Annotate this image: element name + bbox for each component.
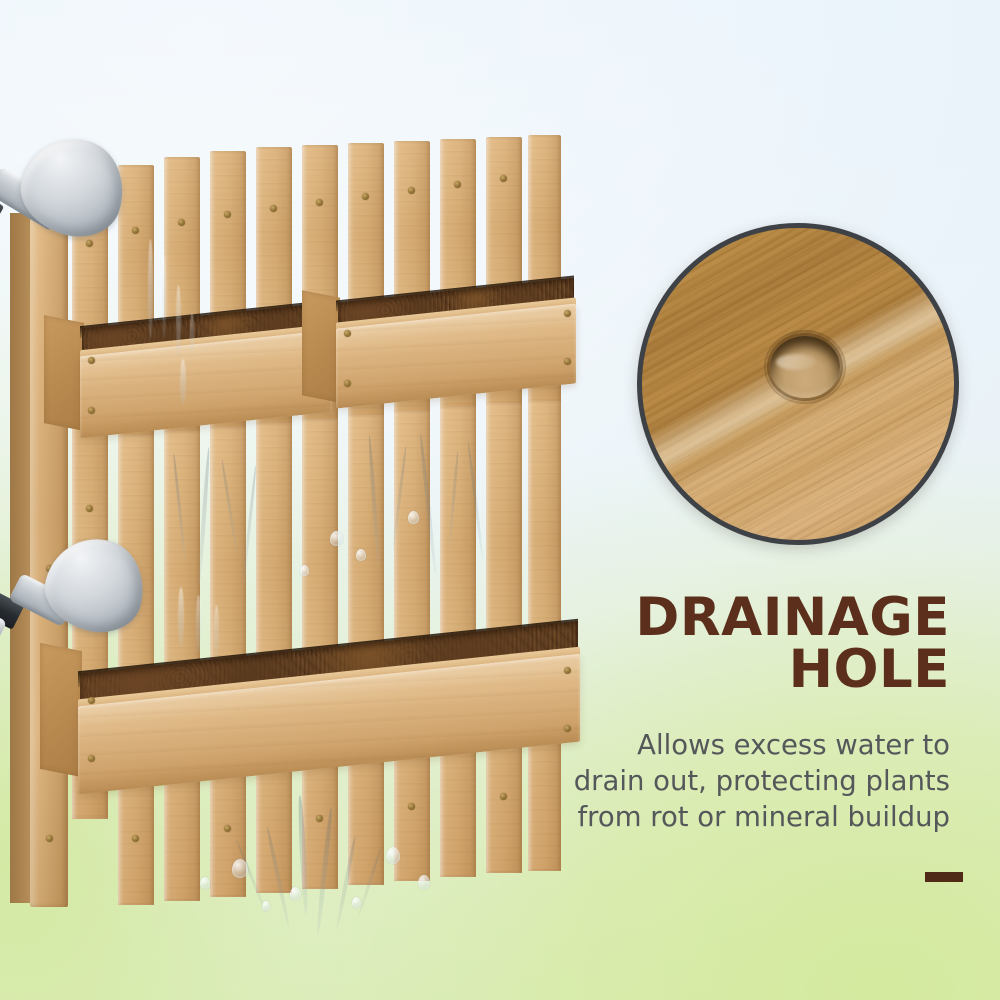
water-droplet: [290, 887, 301, 900]
screw-icon: [344, 330, 351, 337]
screw-icon: [224, 825, 231, 832]
water-stream: [178, 587, 184, 647]
body-line-3: from rot or mineral buildup: [470, 800, 950, 836]
screw-icon: [88, 407, 95, 414]
water-droplet: [300, 565, 309, 576]
screw-icon: [88, 357, 95, 364]
screw-icon: [564, 358, 571, 365]
screw-icon: [408, 803, 415, 810]
page-title: DRAINAGE HOLE: [480, 592, 950, 696]
watering-can-rose: [11, 127, 136, 247]
box-left-end: [302, 290, 340, 402]
water-stream: [180, 359, 186, 405]
description-text: Allows excess water to drain out, protec…: [470, 728, 950, 835]
water-droplet: [262, 901, 270, 911]
screw-icon: [270, 205, 277, 212]
water-droplet: [386, 847, 400, 864]
water-droplet: [352, 897, 361, 908]
water-stream: [148, 239, 153, 339]
screw-icon: [344, 380, 351, 387]
screw-icon: [408, 187, 415, 194]
water-droplet: [418, 875, 430, 889]
screw-icon: [224, 211, 231, 218]
water-droplet: [356, 549, 366, 561]
body-line-2: drain out, protecting plants: [470, 764, 950, 800]
planter-box-upper-right: [302, 288, 572, 403]
water-stream: [196, 595, 201, 653]
watering-can-top: [0, 130, 160, 250]
watering-can-rose: [37, 529, 153, 641]
screw-icon: [86, 505, 93, 512]
box-left-end: [40, 643, 82, 777]
headline-line-2: HOLE: [480, 644, 950, 696]
screw-icon: [362, 193, 369, 200]
screw-icon: [88, 697, 95, 704]
water-stream: [162, 255, 166, 339]
water-droplet: [232, 859, 248, 878]
water-stream: [176, 285, 181, 355]
detail-inset-drainage-hole: [637, 223, 959, 545]
screw-icon: [316, 199, 323, 206]
watering-can-bottom: [0, 533, 144, 653]
screw-icon: [564, 310, 571, 317]
water-droplet: [408, 511, 419, 524]
water-droplet: [330, 531, 343, 546]
screw-icon: [316, 815, 323, 822]
drainage-hole-highlight: [776, 354, 816, 370]
water-droplet: [200, 877, 210, 889]
box-left-end: [44, 315, 84, 431]
water-stream: [190, 313, 194, 355]
screw-icon: [454, 181, 461, 188]
screw-icon: [88, 755, 95, 762]
screw-icon: [132, 835, 139, 842]
water-stream: [214, 605, 219, 657]
screw-icon: [46, 835, 53, 842]
body-line-1: Allows excess water to: [470, 728, 950, 764]
screw-icon: [178, 219, 185, 226]
accent-dash: [925, 872, 963, 882]
screw-icon: [500, 175, 507, 182]
